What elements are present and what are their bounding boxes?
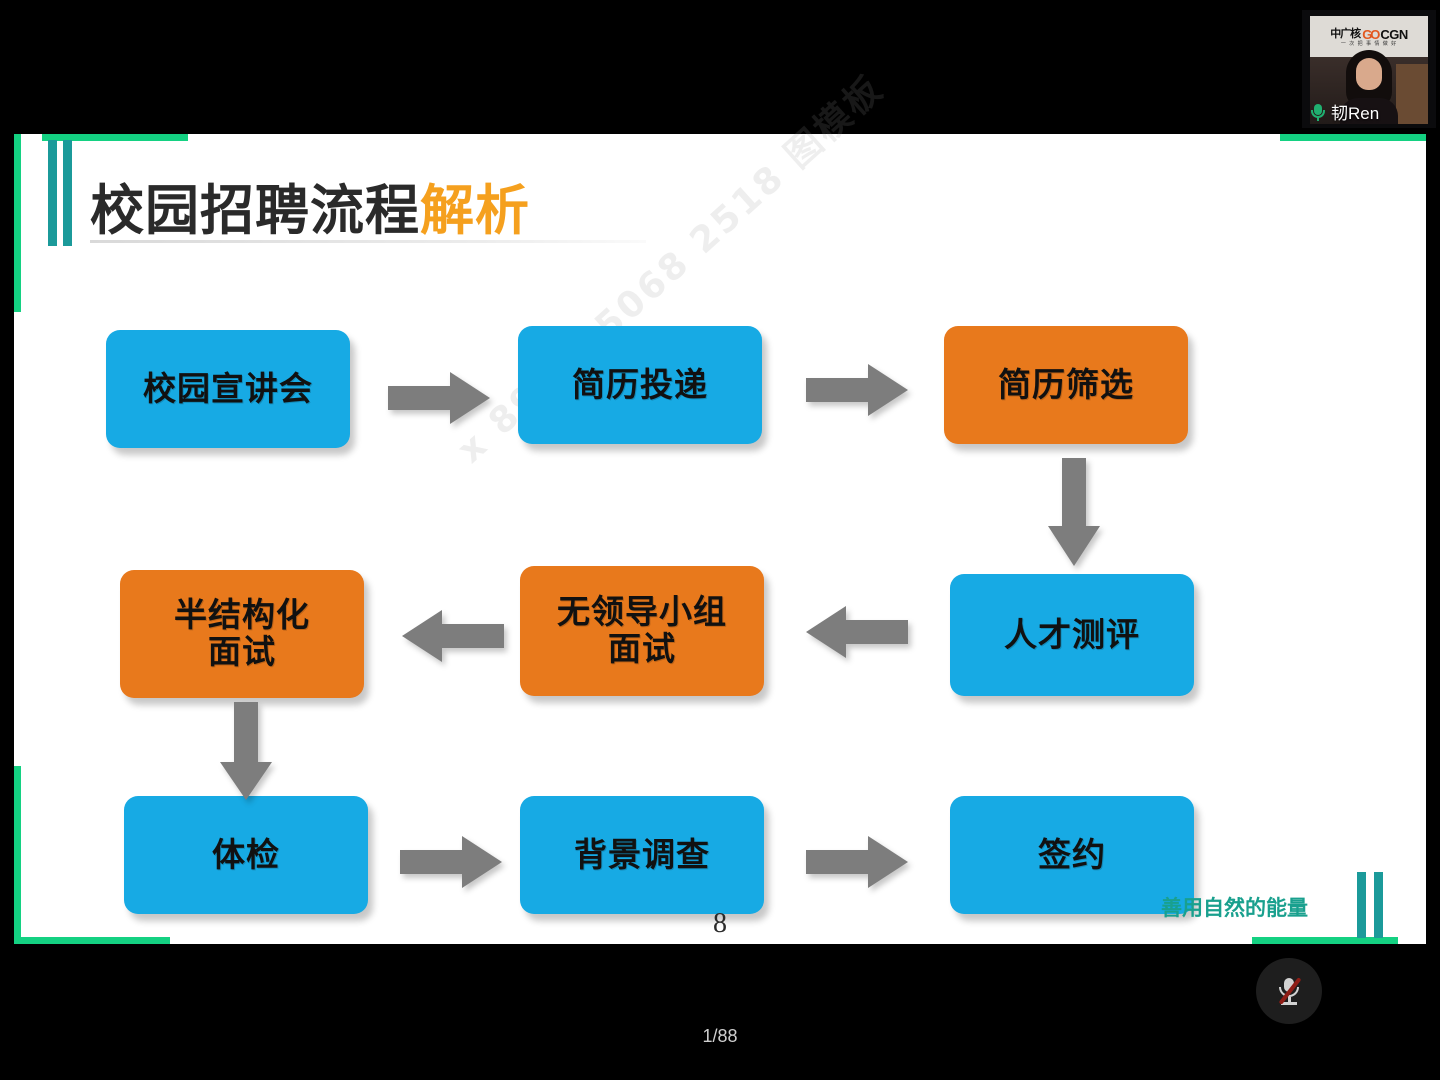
flow-node-n1[interactable]: 校园宣讲会 [106, 330, 350, 448]
presentation-slide: 校园招聘流程解析 x 89 75 5068 2518 图模板 校园宣讲会 简历投… [14, 134, 1426, 944]
flow-node-n8-label: 背景调查 [574, 837, 710, 874]
microphone-icon [1310, 103, 1326, 121]
flow-node-n2-label: 简历投递 [572, 367, 708, 404]
flow-node-n3[interactable]: 简历筛选 [944, 326, 1188, 444]
cgn-logo-mark: GO [1362, 28, 1378, 41]
microphone-muted-icon [1276, 976, 1302, 1006]
flow-arrow-n8-n9-icon [806, 834, 908, 890]
flow-node-n4[interactable]: 人才测评 [950, 574, 1194, 696]
flow-node-n6[interactable]: 半结构化面试 [120, 570, 364, 698]
flow-node-n9[interactable]: 签约 [950, 796, 1194, 914]
flow-arrow-n5-n6-icon [402, 608, 504, 664]
chair-shape [1396, 64, 1428, 124]
flow-arrow-n2-n3-icon [806, 362, 908, 418]
flow-arrow-n6-n7-icon [218, 702, 274, 800]
flow-arrow-n1-n2-icon [388, 370, 490, 426]
flow-arrow-n3-n4-icon [1046, 458, 1102, 566]
flow-node-n6-label: 半结构化面试 [174, 597, 310, 671]
participant-video-tile[interactable]: 中广核 GO CGN 一 次 把 事 情 做 好 韧Ren [1302, 10, 1436, 128]
flow-node-n3-label: 简历筛选 [998, 367, 1134, 404]
cgn-logo-tagline: 一 次 把 事 情 做 好 [1341, 42, 1397, 47]
flow-arrow-n7-n8-icon [400, 834, 502, 890]
slide-page-number: 8 [713, 908, 727, 940]
cgn-logo-en: CGN [1380, 28, 1407, 41]
mute-button[interactable] [1256, 958, 1322, 1024]
participant-name-badge: 韧Ren [1310, 99, 1379, 124]
flow-node-n1-label: 校园宣讲会 [143, 371, 313, 408]
slide-tagline: 善用自然的能量 [1161, 892, 1308, 922]
screen-root: 中广核 GO CGN 一 次 把 事 情 做 好 韧Ren [0, 0, 1440, 1080]
slide-counter: 1/88 [702, 1026, 737, 1047]
recruitment-flowchart: 校园宣讲会 简历投递 简历筛选 人才测评 无领导小组面试 半结构化面试 体检 背… [14, 134, 1426, 944]
flow-arrow-n4-n5-icon [806, 604, 908, 660]
flow-node-n8[interactable]: 背景调查 [520, 796, 764, 914]
flow-node-n9-label: 签约 [1038, 837, 1106, 874]
flow-node-n5[interactable]: 无领导小组面试 [520, 566, 764, 696]
flow-node-n4-label: 人才测评 [1004, 617, 1140, 654]
flow-node-n2[interactable]: 简历投递 [518, 326, 762, 444]
cgn-logo: 中广核 GO CGN 一 次 把 事 情 做 好 [1310, 20, 1428, 54]
flow-node-n7[interactable]: 体检 [124, 796, 368, 914]
participant-name: 韧Ren [1331, 99, 1379, 124]
flow-node-n5-label: 无领导小组面试 [557, 594, 727, 668]
flow-node-n7-label: 体检 [212, 837, 280, 874]
cgn-logo-cn: 中广核 [1330, 29, 1360, 40]
